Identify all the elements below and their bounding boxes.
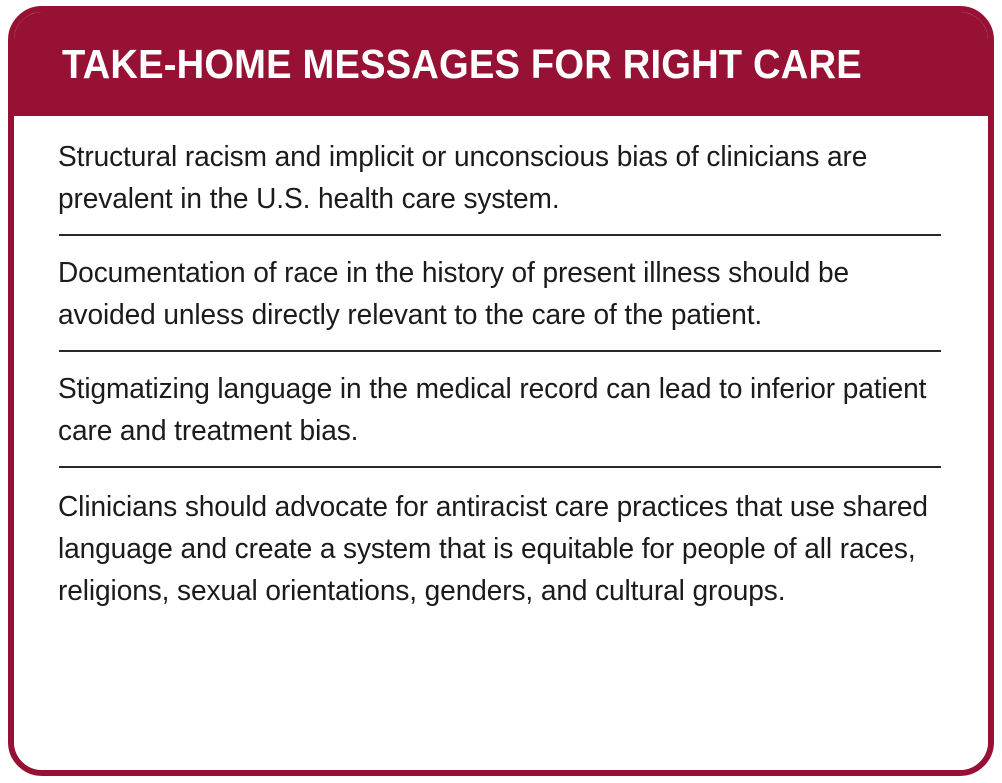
card-header-band: TAKE-HOME MESSAGES FOR RIGHT CARE bbox=[14, 12, 988, 116]
message-text-1: Structural racism and implicit or uncons… bbox=[58, 136, 935, 220]
message-item-4: Clinicians should advocate for antiracis… bbox=[58, 484, 948, 612]
page-root: TAKE-HOME MESSAGES FOR RIGHT CARE Struct… bbox=[0, 0, 1002, 783]
card-body: Structural racism and implicit or uncons… bbox=[14, 116, 988, 770]
message-divider-3 bbox=[59, 466, 941, 468]
message-text-4: Clinicians should advocate for antiracis… bbox=[58, 486, 935, 612]
message-divider-2 bbox=[59, 350, 941, 352]
card-title: TAKE-HOME MESSAGES FOR RIGHT CARE bbox=[62, 44, 862, 85]
message-item-1: Structural racism and implicit or uncons… bbox=[58, 134, 948, 220]
message-divider-1 bbox=[59, 234, 941, 236]
message-item-3: Stigmatizing language in the medical rec… bbox=[58, 368, 948, 452]
take-home-messages-card: TAKE-HOME MESSAGES FOR RIGHT CARE Struct… bbox=[8, 6, 994, 776]
message-text-2: Documentation of race in the history of … bbox=[58, 252, 935, 336]
message-text-3: Stigmatizing language in the medical rec… bbox=[58, 368, 935, 452]
message-item-2: Documentation of race in the history of … bbox=[58, 252, 948, 336]
